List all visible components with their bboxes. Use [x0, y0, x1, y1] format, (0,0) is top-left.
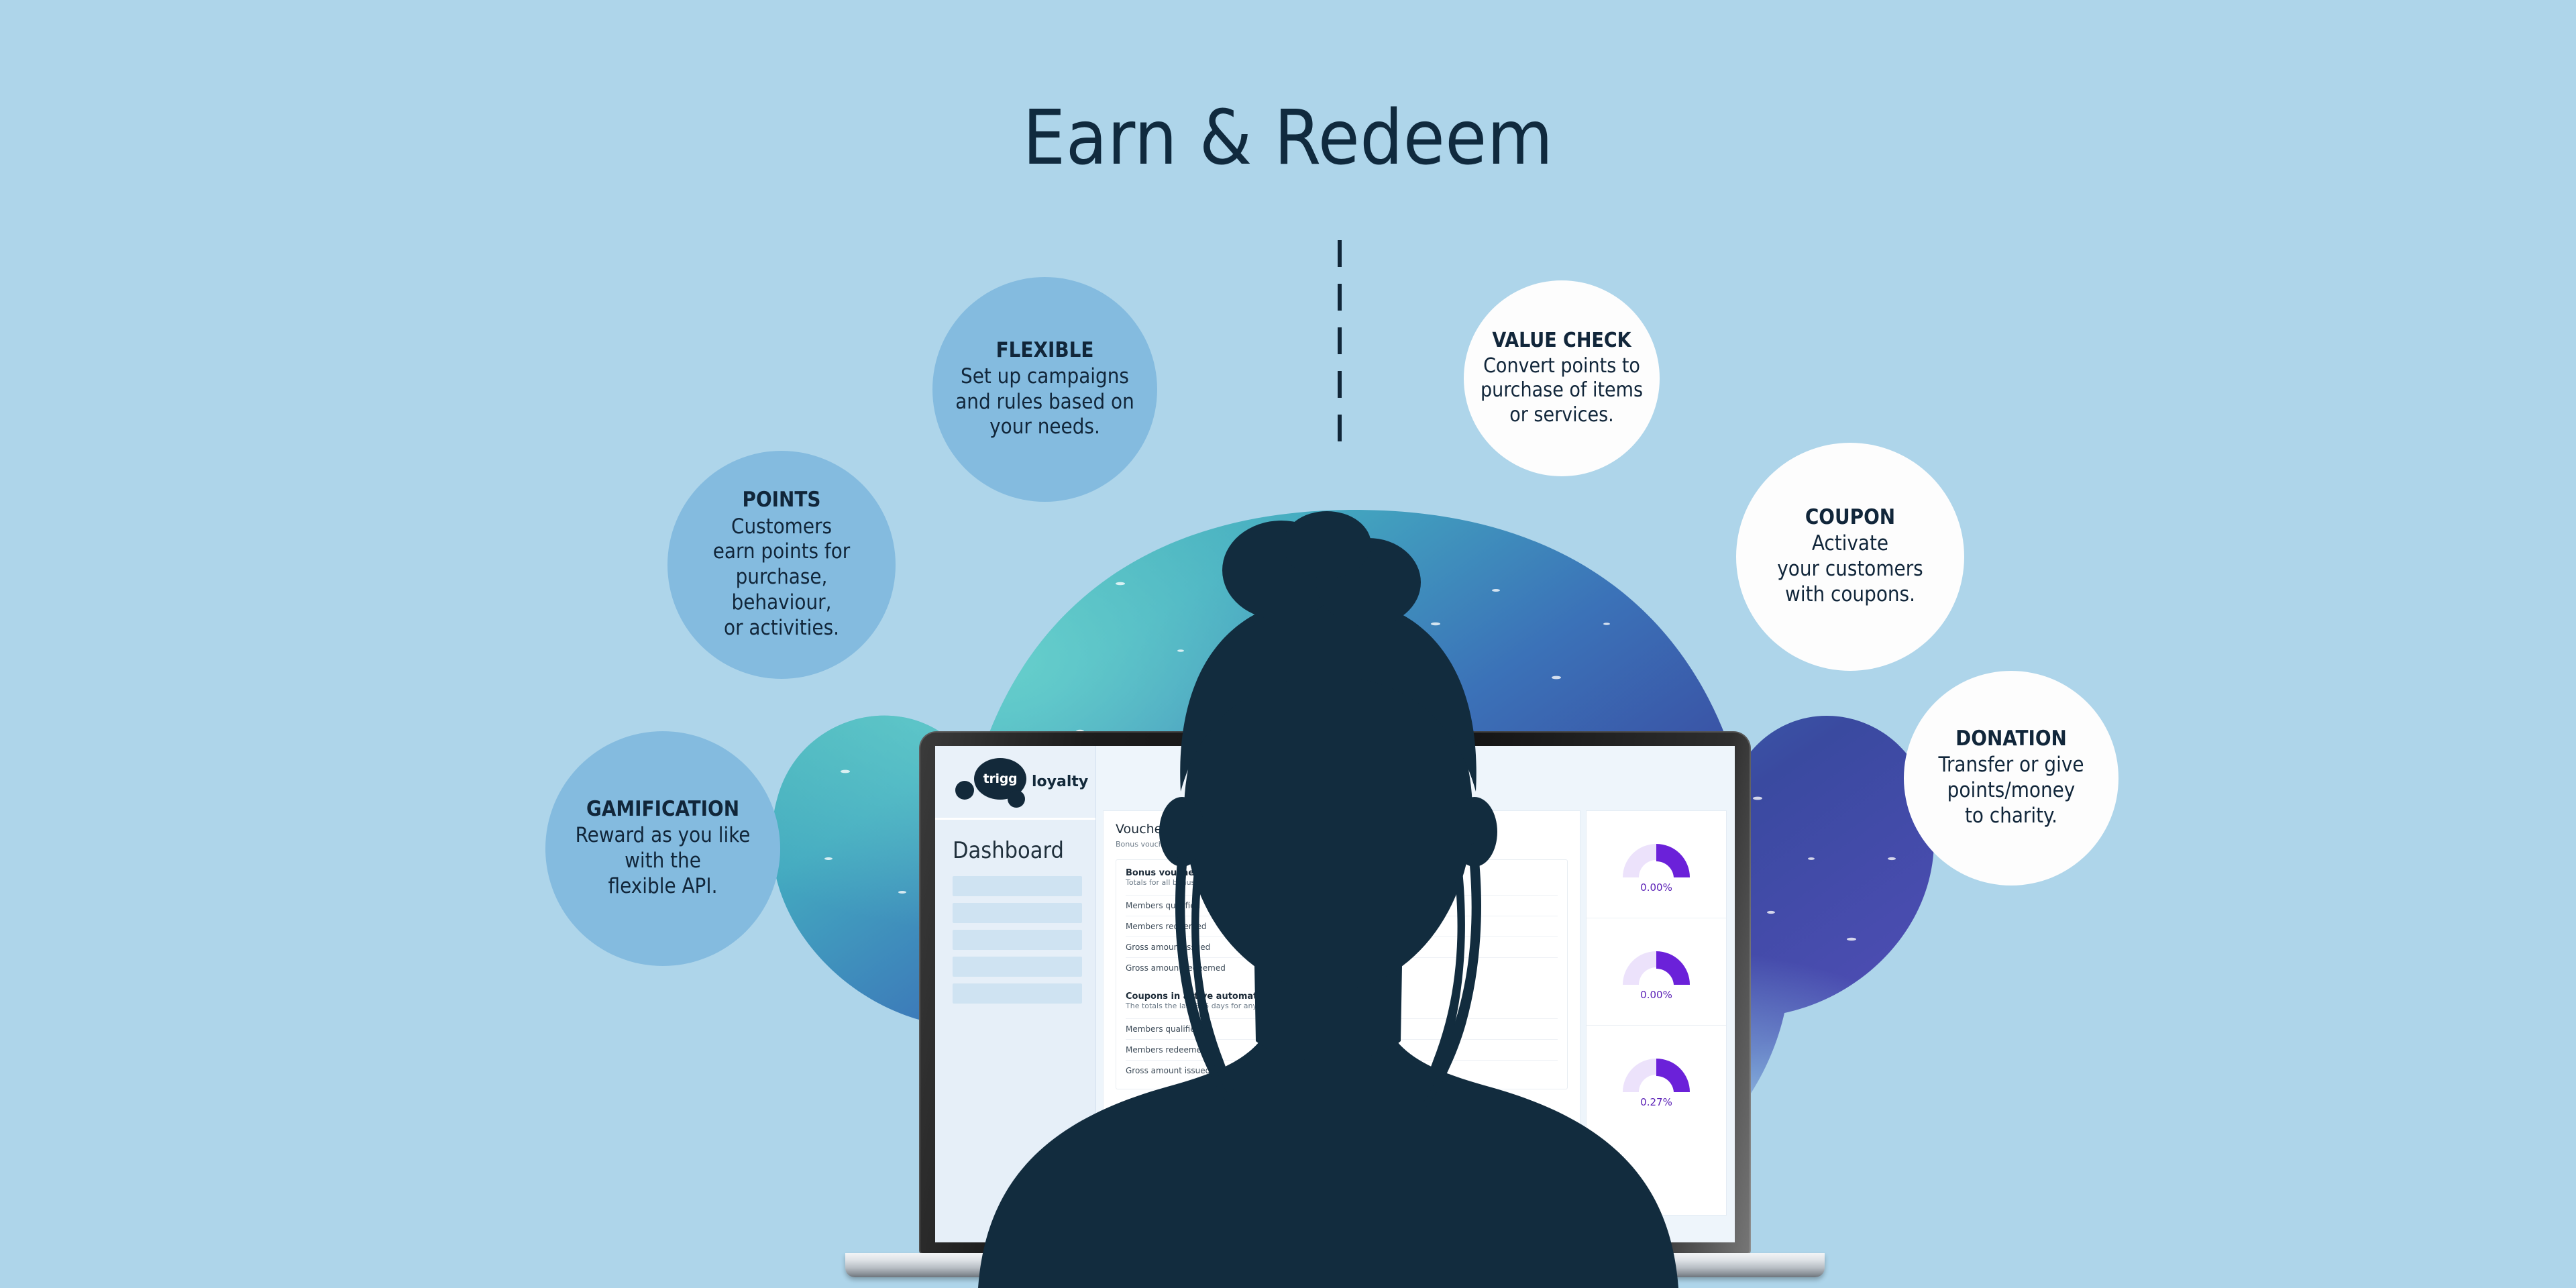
divider-dash — [1338, 327, 1342, 354]
bubble-title: FLEXIBLE — [996, 339, 1094, 362]
bubble-body: Activate your customers with coupons. — [1777, 531, 1923, 607]
bubble-body: Customers earn points for purchase, beha… — [713, 515, 851, 641]
bubble-body: Convert points to purchase of items or s… — [1481, 354, 1643, 428]
bubble-coupon[interactable]: COUPON Activate your customers with coup… — [1736, 443, 1964, 671]
bubble-title: COUPON — [1805, 506, 1895, 529]
bubble-donation[interactable]: DONATION Transfer or give points/money t… — [1904, 671, 2118, 885]
page-title: Earn & Redeem — [0, 101, 2576, 176]
bubble-points[interactable]: POINTS Customers earn points for purchas… — [667, 451, 896, 679]
bubble-body: Reward as you like with the flexible API… — [576, 823, 751, 899]
bubble-gamification[interactable]: GAMIFICATION Reward as you like with the… — [545, 731, 780, 966]
person-silhouette — [966, 496, 1690, 1288]
bubble-body: Transfer or give points/money to charity… — [1938, 753, 2084, 828]
divider-dash — [1338, 284, 1342, 311]
divider-dash — [1338, 371, 1342, 398]
bubble-value-check[interactable]: VALUE CHECK Convert points to purchase o… — [1464, 280, 1660, 476]
divider-dash — [1338, 415, 1342, 441]
poster-canvas: Earn & Redeem — [0, 0, 2576, 1288]
bubble-title: GAMIFICATION — [586, 798, 739, 820]
bubble-title: DONATION — [1955, 727, 2067, 750]
bubble-title: VALUE CHECK — [1492, 329, 1631, 352]
bubble-title: POINTS — [743, 488, 821, 511]
bubble-flexible[interactable]: FLEXIBLE Set up campaigns and rules base… — [932, 277, 1157, 502]
dashed-divider — [1338, 240, 1342, 441]
bubble-body: Set up campaigns and rules based on your… — [955, 364, 1134, 440]
divider-dash — [1338, 240, 1342, 267]
